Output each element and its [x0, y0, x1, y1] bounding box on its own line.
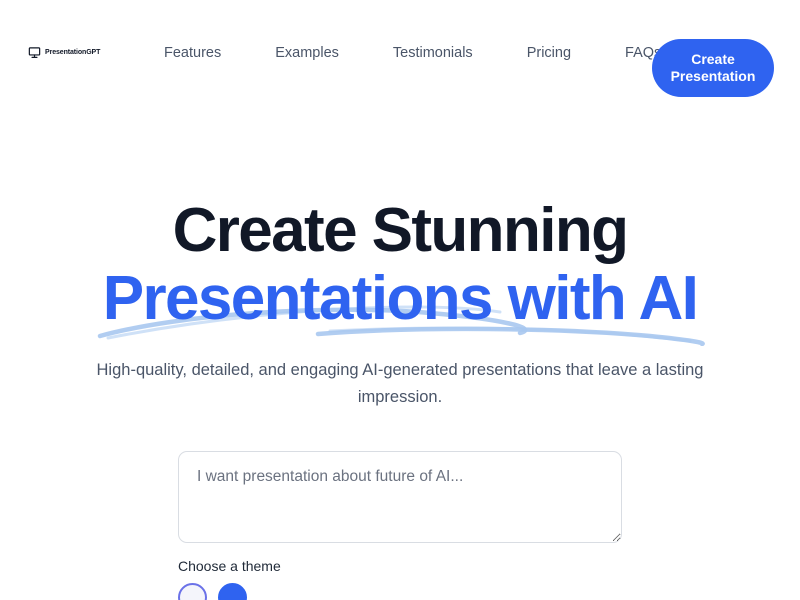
- presentation-screen-icon: [28, 46, 41, 59]
- nav-item-pricing[interactable]: Pricing: [527, 39, 571, 67]
- hero-section: Create Stunning Presentations with AI Hi…: [0, 105, 800, 600]
- theme-swatch-blue[interactable]: [218, 583, 247, 600]
- prompt-form: Choose a theme: [178, 451, 622, 600]
- brand-logo[interactable]: PresentationGPT: [28, 46, 138, 59]
- headline-line-2-wrapper: Presentations with AI: [0, 268, 800, 330]
- prompt-input[interactable]: [178, 451, 622, 543]
- choose-theme-label: Choose a theme: [178, 558, 622, 574]
- theme-swatch-list: [178, 583, 622, 600]
- page-title: Create Stunning Presentations with AI: [0, 200, 800, 330]
- nav-item-features[interactable]: Features: [164, 39, 221, 67]
- nav-item-examples[interactable]: Examples: [275, 39, 339, 67]
- headline-line-2: Presentations with AI: [103, 264, 698, 333]
- site-header: PresentationGPT Features Examples Testim…: [0, 0, 800, 105]
- create-presentation-button[interactable]: Create Presentation: [652, 39, 774, 97]
- nav-item-testimonials[interactable]: Testimonials: [393, 39, 473, 67]
- headline-line-1: Create Stunning: [173, 196, 628, 265]
- brand-name: PresentationGPT: [45, 49, 100, 56]
- hero-subtitle: High-quality, detailed, and engaging AI-…: [80, 357, 720, 411]
- theme-swatch-light[interactable]: [178, 583, 207, 600]
